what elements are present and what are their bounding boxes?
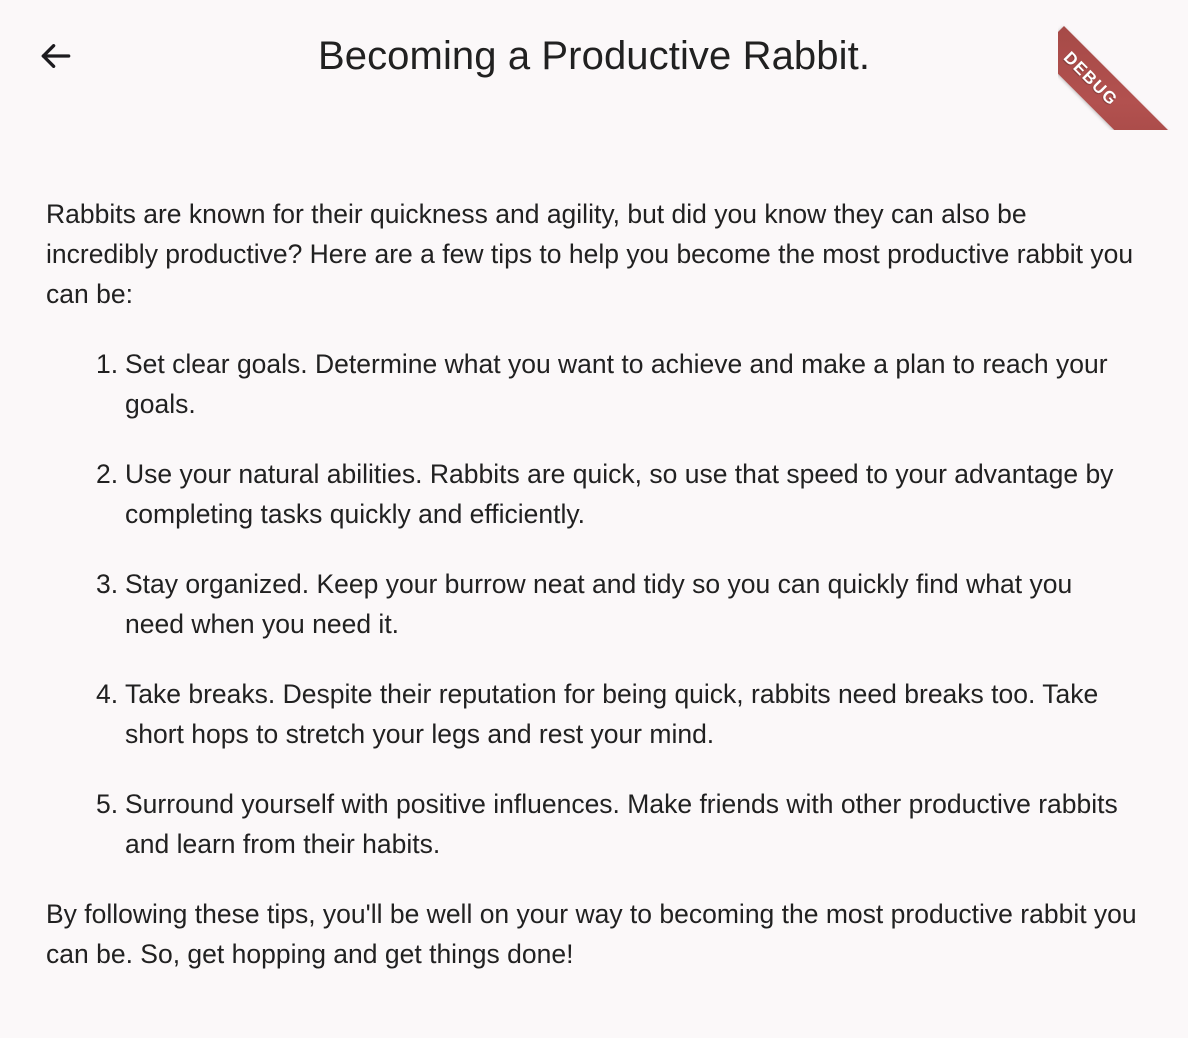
list-item-text: Set clear goals. Determine what you want… [125, 344, 1130, 424]
app-bar: Becoming a Productive Rabbit. [0, 0, 1188, 110]
list-item-marker: 5. [96, 784, 125, 824]
list-item-text: Use your natural abilities. Rabbits are … [125, 454, 1130, 534]
list-item: 5. Surround yourself with positive influ… [46, 784, 1142, 864]
page-title: Becoming a Productive Rabbit. [0, 34, 1188, 76]
list-item-text: Surround yourself with positive influenc… [125, 784, 1130, 864]
article-content: Rabbits are known for their quickness an… [0, 194, 1188, 974]
list-item-marker: 1. [96, 344, 125, 384]
outro-paragraph: By following these tips, you'll be well … [46, 894, 1138, 974]
list-item: 2. Use your natural abilities. Rabbits a… [46, 454, 1142, 534]
tips-list: 1. Set clear goals. Determine what you w… [46, 344, 1142, 864]
list-item: 1. Set clear goals. Determine what you w… [46, 344, 1142, 424]
intro-paragraph: Rabbits are known for their quickness an… [46, 194, 1138, 314]
list-item: 4. Take breaks. Despite their reputation… [46, 674, 1142, 754]
back-button[interactable] [28, 28, 84, 84]
list-item-text: Take breaks. Despite their reputation fo… [125, 674, 1130, 754]
list-item-marker: 2. [96, 454, 125, 494]
arrow-left-icon [37, 37, 75, 75]
list-item-marker: 4. [96, 674, 125, 714]
list-item: 3. Stay organized. Keep your burrow neat… [46, 564, 1142, 644]
list-item-marker: 3. [96, 564, 125, 604]
list-item-text: Stay organized. Keep your burrow neat an… [125, 564, 1130, 644]
